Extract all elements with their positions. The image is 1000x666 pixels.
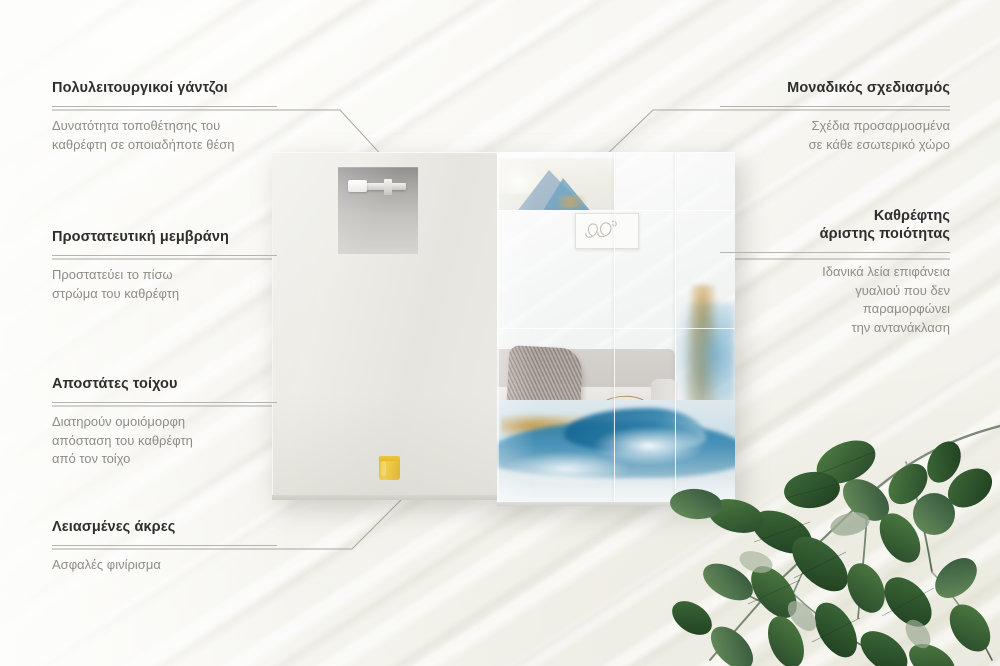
feature-description: Σχέδια προσαρμοσμένα σε κάθε εσωτερικό χ… — [720, 117, 950, 154]
feature-label-unique-design: Μοναδικός σχεδιασμός Σχέδια προσαρμοσμέν… — [720, 79, 950, 154]
feature-divider — [52, 106, 277, 107]
feature-title: Καθρέφτης άριστης ποιότητας — [720, 207, 950, 243]
mirror-seam-horizontal-1 — [497, 210, 735, 211]
feature-label-smoothed-edges: Λειασμένες άκρες Ασφαλές φινίρισμα — [52, 518, 277, 575]
mirror-face-panel — [497, 152, 735, 503]
product-assembly — [272, 152, 735, 503]
mirror-seam-horizontal-2 — [497, 328, 735, 329]
feature-divider — [52, 545, 277, 546]
feature-title: Λειασμένες άκρες — [52, 518, 277, 536]
feature-title: Προστατευτική μεμβράνη — [52, 228, 277, 246]
abstract-mountain-artwork-icon — [497, 158, 614, 210]
feature-divider — [52, 402, 277, 403]
hook-bar — [350, 183, 406, 190]
hanging-bracket-icon — [338, 167, 418, 254]
feature-title: Αποστάτες τοίχου — [52, 375, 277, 393]
feature-description: Δυνατότητα τοποθέτησης του καθρέφτη σε ο… — [52, 117, 277, 154]
feature-divider — [52, 255, 277, 256]
feature-label-top-quality-mirror: Καθρέφτης άριστης ποιότητας Ιδανικά λεία… — [720, 207, 950, 337]
feature-divider — [720, 252, 950, 253]
feature-label-multifunctional-hooks: Πολυλειτουργικοί γάντζοι Δυνατότητα τοπο… — [52, 79, 277, 154]
yellow-wall-spacer-icon — [379, 456, 400, 480]
feature-description: Διατηρούν ομοιόμορφη απόσταση του καθρέφ… — [52, 413, 277, 468]
feature-description: Ιδανικά λεία επιφάνεια γυαλιού που δεν π… — [720, 263, 950, 337]
product-infographic: Πολυλειτουργικοί γάντζοι Δυνατότητα τοπο… — [0, 0, 1000, 666]
hook-tab — [384, 179, 392, 195]
mirror-face-panel-edge — [497, 502, 735, 506]
mirror-left-edge-highlight — [497, 153, 499, 503]
feature-description: Προστατεύει το πίσω στρώμα του καθρέφτη — [52, 266, 277, 303]
abstract-blue-gold-artwork-icon — [497, 400, 735, 503]
framed-line-art-icon — [575, 213, 639, 249]
feature-title: Μοναδικός σχεδιασμός — [720, 79, 950, 97]
feature-label-protective-membrane: Προστατευτική μεμβράνη Προστατεύει το πί… — [52, 228, 277, 303]
hook-plate — [348, 180, 367, 192]
feature-label-wall-spacers: Αποστάτες τοίχου Διατηρούν ομοιόμορφη απ… — [52, 375, 277, 468]
mirror-back-panel-edge — [272, 495, 497, 500]
feature-divider — [720, 106, 950, 107]
feature-description: Ασφαλές φινίρισμα — [52, 556, 277, 574]
feature-title: Πολυλειτουργικοί γάντζοι — [52, 79, 277, 97]
mirror-back-panel — [272, 152, 498, 496]
